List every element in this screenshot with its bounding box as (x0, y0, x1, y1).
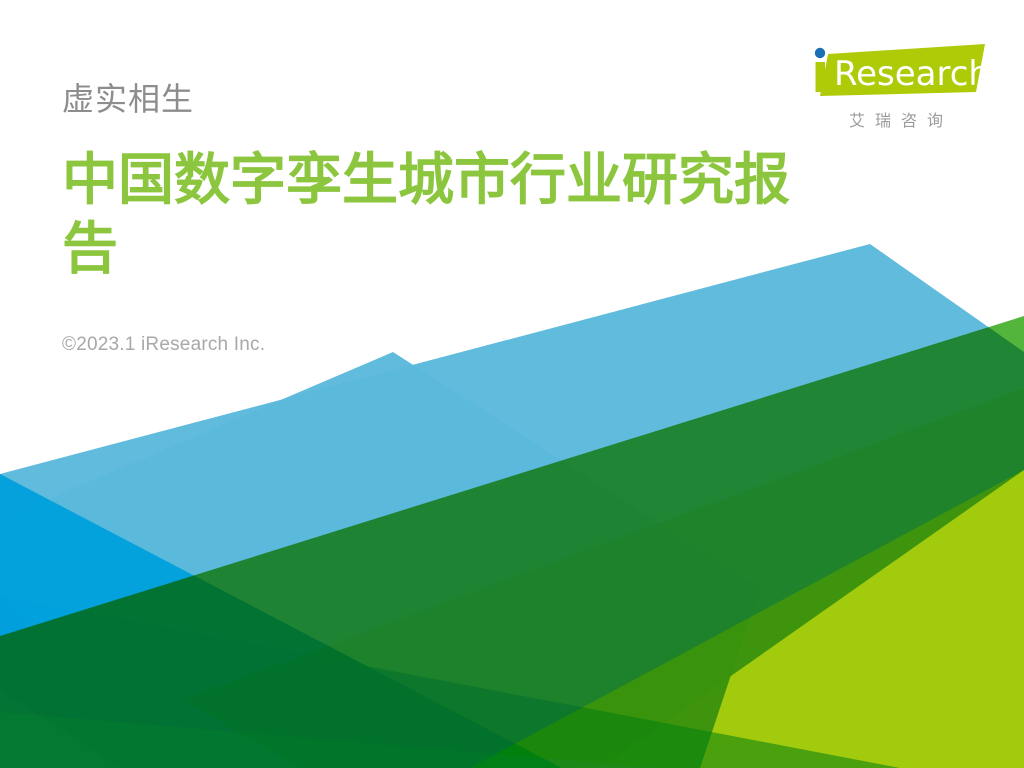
logo-i-dot-icon (815, 48, 825, 58)
page-title: 中国数字孪生城市行业研究报告 (62, 147, 842, 284)
report-cover-slide: Research 艾瑞咨询 虚实相生 中国数字孪生城市行业研究报告 ©2023.… (0, 0, 1024, 768)
logo-wordmark-text: Research (834, 54, 988, 94)
cover-text-block: 虚实相生 中国数字孪生城市行业研究报告 ©2023.1 iResearch In… (62, 78, 852, 356)
copyright-notice: ©2023.1 iResearch Inc. (62, 334, 852, 356)
cover-kicker: 虚实相生 (62, 78, 852, 121)
